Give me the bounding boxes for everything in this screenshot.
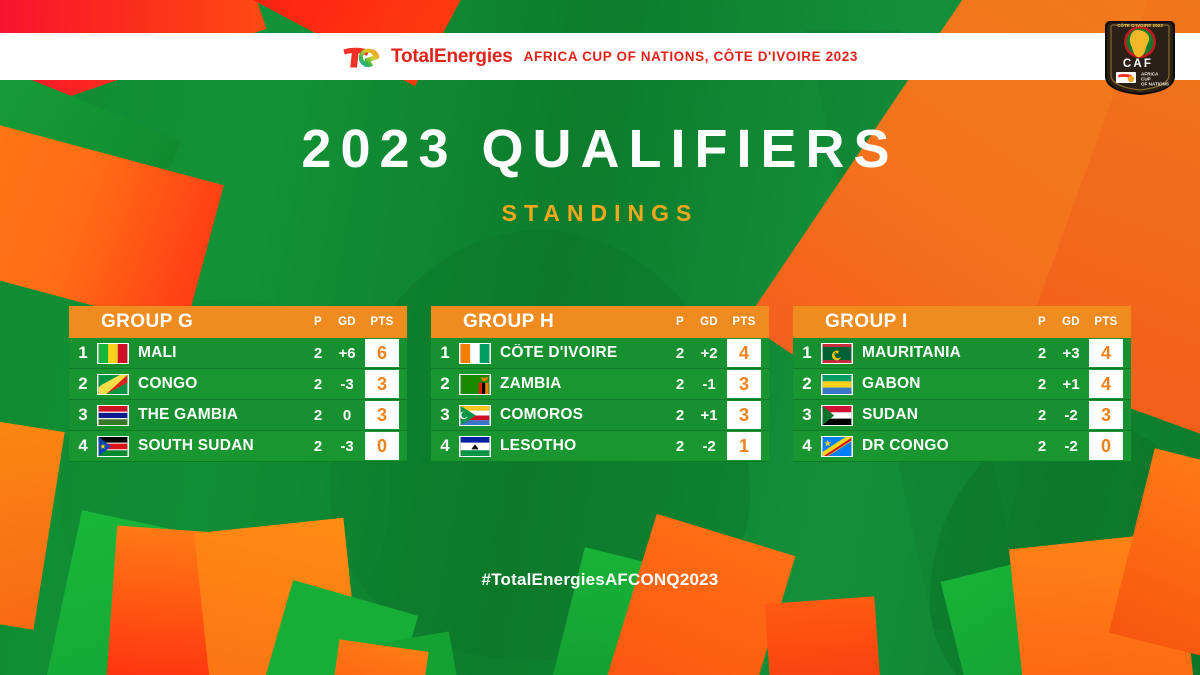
team-name: COMOROS xyxy=(500,406,667,424)
table-row[interactable]: 2 GABON 2 +1 4 xyxy=(793,369,1131,400)
column-header-gd: GD xyxy=(331,316,363,328)
points: 4 xyxy=(1089,339,1123,367)
group-header: GROUP I P GD PTS xyxy=(793,306,1131,338)
goal-diff: -2 xyxy=(1055,407,1087,424)
caf-org-text: CAF xyxy=(1123,58,1153,70)
table-row[interactable]: 4 SOUTH SUDAN 2 -3 0 xyxy=(69,431,407,462)
group-table-g: GROUP G P GD PTS 1 MALI 2 +6 6 2 CONGO 2… xyxy=(69,306,407,466)
column-header-pts: PTS xyxy=(365,316,399,328)
caf-line3: OF NATIONS xyxy=(1141,82,1169,87)
points: 3 xyxy=(1089,401,1123,429)
played: 2 xyxy=(305,376,331,393)
mali-flag xyxy=(97,343,129,364)
rank: 1 xyxy=(793,343,821,363)
group-name: GROUP I xyxy=(793,311,1029,333)
played: 2 xyxy=(1029,438,1055,455)
points: 1 xyxy=(727,432,761,460)
rank: 4 xyxy=(69,436,97,456)
event-name: AFRICA CUP OF NATIONS, CÔTE D'IVOIRE 202… xyxy=(524,49,858,64)
team-name: THE GAMBIA xyxy=(138,406,305,424)
congo-flag xyxy=(97,374,129,395)
goal-diff: -2 xyxy=(693,438,725,455)
mauritania-flag xyxy=(821,343,853,364)
column-header-gd: GD xyxy=(1055,316,1087,328)
goal-diff: +1 xyxy=(1055,376,1087,393)
goal-diff: +2 xyxy=(693,345,725,362)
goal-diff: +1 xyxy=(693,407,725,424)
page-subtitle: STANDINGS xyxy=(0,200,1200,227)
points: 0 xyxy=(365,432,399,460)
rank: 3 xyxy=(431,405,459,425)
team-name: SUDAN xyxy=(862,406,1029,424)
points: 3 xyxy=(727,370,761,398)
gabon-flag xyxy=(821,374,853,395)
group-name: GROUP G xyxy=(69,311,305,333)
zambia-flag xyxy=(459,374,491,395)
rank: 3 xyxy=(69,405,97,425)
column-header-gd: GD xyxy=(693,316,725,328)
rank: 3 xyxy=(793,405,821,425)
played: 2 xyxy=(305,407,331,424)
table-row[interactable]: 4 LESOTHO 2 -2 1 xyxy=(431,431,769,462)
column-header-pts: PTS xyxy=(727,316,761,328)
group-header: GROUP H P GD PTS xyxy=(431,306,769,338)
team-name: LESOTHO xyxy=(500,437,667,455)
column-header-p: P xyxy=(667,316,693,328)
rank: 2 xyxy=(431,374,459,394)
played: 2 xyxy=(667,438,693,455)
table-row[interactable]: 4 DR CONGO 2 -2 0 xyxy=(793,431,1131,462)
page-title: 2023 QUALIFIERS xyxy=(0,118,1200,180)
table-row[interactable]: 3 SUDAN 2 -2 3 xyxy=(793,400,1131,431)
group-name: GROUP H xyxy=(431,311,667,333)
rank: 4 xyxy=(431,436,459,456)
goal-diff: +3 xyxy=(1055,345,1087,362)
group-table-i: GROUP I P GD PTS 1 MAURITANIA 2 +3 4 2 G… xyxy=(793,306,1131,466)
team-name: MALI xyxy=(138,344,305,362)
points: 4 xyxy=(1089,370,1123,398)
afcon-standings-graphic: TotalEnergies AFRICA CUP OF NATIONS, CÔT… xyxy=(0,0,1200,675)
played: 2 xyxy=(667,376,693,393)
played: 2 xyxy=(1029,345,1055,362)
column-header-p: P xyxy=(305,316,331,328)
caf-badge: CÔTE D'IVOIRE 2023 CAF AFRICA CUP OF NAT… xyxy=(1104,14,1176,96)
goal-diff: 0 xyxy=(331,407,363,424)
shape-bottom-right-red xyxy=(765,596,886,675)
dr-congo-flag xyxy=(821,436,853,457)
lesotho-flag xyxy=(459,436,491,457)
team-name: SOUTH SUDAN xyxy=(138,437,305,455)
south-sudan-flag xyxy=(97,436,129,457)
comoros-flag xyxy=(459,405,491,426)
rank: 4 xyxy=(793,436,821,456)
gambia-flag xyxy=(97,405,129,426)
team-name: GABON xyxy=(862,375,1029,393)
played: 2 xyxy=(667,407,693,424)
column-header-p: P xyxy=(1029,316,1055,328)
team-name: ZAMBIA xyxy=(500,375,667,393)
table-row[interactable]: 1 CÔTE D'IVOIRE 2 +2 4 xyxy=(431,338,769,369)
table-row[interactable]: 1 MALI 2 +6 6 xyxy=(69,338,407,369)
table-row[interactable]: 3 COMOROS 2 +1 3 xyxy=(431,400,769,431)
rank: 2 xyxy=(69,374,97,394)
totalenergies-logo-icon xyxy=(342,44,382,70)
team-name: CONGO xyxy=(138,375,305,393)
sponsor-banner: TotalEnergies AFRICA CUP OF NATIONS, CÔT… xyxy=(0,33,1200,80)
group-header: GROUP G P GD PTS xyxy=(69,306,407,338)
group-table-h: GROUP H P GD PTS 1 CÔTE D'IVOIRE 2 +2 4 … xyxy=(431,306,769,466)
points: 0 xyxy=(1089,432,1123,460)
played: 2 xyxy=(305,345,331,362)
team-name: MAURITANIA xyxy=(862,344,1029,362)
caf-arc-text: CÔTE D'IVOIRE 2023 xyxy=(1117,21,1163,28)
played: 2 xyxy=(1029,376,1055,393)
table-row[interactable]: 1 MAURITANIA 2 +3 4 xyxy=(793,338,1131,369)
sudan-flag xyxy=(821,405,853,426)
points: 4 xyxy=(727,339,761,367)
goal-diff: -2 xyxy=(1055,438,1087,455)
played: 2 xyxy=(305,438,331,455)
team-name: DR CONGO xyxy=(862,437,1029,455)
goal-diff: -3 xyxy=(331,438,363,455)
cote-divoire-flag xyxy=(459,343,491,364)
column-header-pts: PTS xyxy=(1089,316,1123,328)
goal-diff: +6 xyxy=(331,345,363,362)
rank: 2 xyxy=(793,374,821,394)
brand-name: TotalEnergies xyxy=(391,46,513,68)
rank: 1 xyxy=(69,343,97,363)
points: 3 xyxy=(365,401,399,429)
points: 3 xyxy=(727,401,761,429)
goal-diff: -3 xyxy=(331,376,363,393)
team-name: CÔTE D'IVOIRE xyxy=(500,344,667,362)
table-row[interactable]: 2 ZAMBIA 2 -1 3 xyxy=(431,369,769,400)
standings-tables: GROUP G P GD PTS 1 MALI 2 +6 6 2 CONGO 2… xyxy=(0,306,1200,466)
points: 6 xyxy=(365,339,399,367)
table-row[interactable]: 2 CONGO 2 -3 3 xyxy=(69,369,407,400)
rank: 1 xyxy=(431,343,459,363)
hashtag: #TotalEnergiesAFCONQ2023 xyxy=(0,570,1200,590)
goal-diff: -1 xyxy=(693,376,725,393)
table-row[interactable]: 3 THE GAMBIA 2 0 3 xyxy=(69,400,407,431)
played: 2 xyxy=(667,345,693,362)
points: 3 xyxy=(365,370,399,398)
played: 2 xyxy=(1029,407,1055,424)
